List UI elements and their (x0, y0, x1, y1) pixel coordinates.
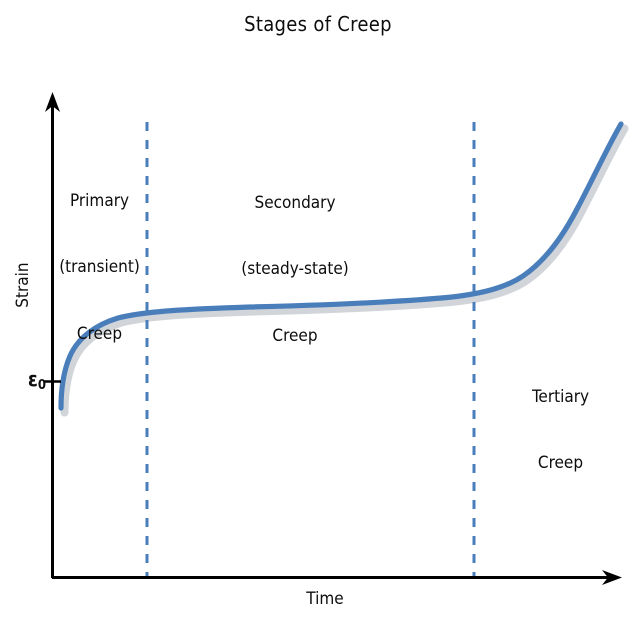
y-axis-label: Strain (12, 245, 34, 325)
stage-secondary-line-2: (steady-state) (200, 258, 390, 280)
stage-primary-line-2: (transient) (52, 256, 147, 278)
epsilon-zero-label: ε0 (8, 366, 46, 392)
epsilon-symbol: ε (28, 367, 38, 391)
epsilon-subscript: 0 (38, 378, 46, 393)
stage-label-primary: Primary (transient) Creep (52, 146, 147, 389)
stage-secondary-line-1: Secondary (200, 192, 390, 214)
stage-primary-line-1: Primary (52, 190, 147, 212)
stage-primary-line-3: Creep (52, 323, 147, 345)
x-axis-label: Time (265, 588, 385, 610)
chart-title: Stages of Creep (0, 11, 636, 37)
creep-diagram: Stages of Creep Primary (transient) Cree… (0, 0, 636, 620)
stage-secondary-line-3: Creep (200, 325, 390, 347)
stage-label-tertiary: Tertiary Creep (494, 342, 627, 519)
stage-tertiary-line-1: Tertiary (494, 386, 627, 408)
stage-tertiary-line-2: Creep (494, 452, 627, 474)
stage-label-secondary: Secondary (steady-state) Creep (200, 148, 390, 391)
